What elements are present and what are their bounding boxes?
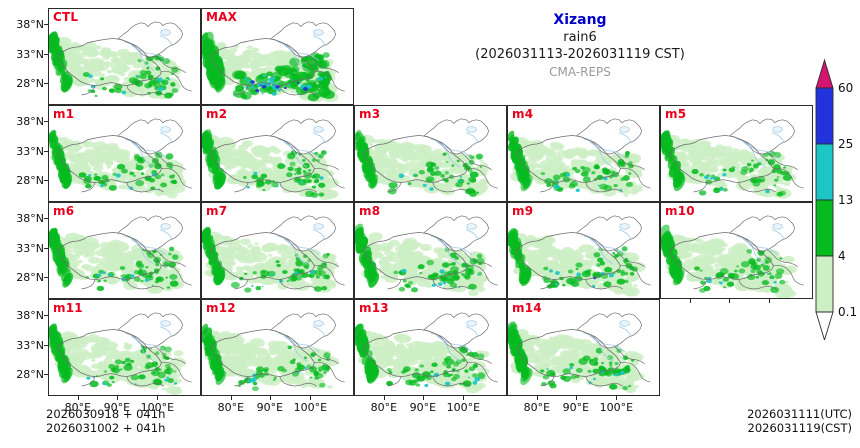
x-axis-label: 80°E [517, 402, 557, 413]
x-axis-tick [576, 396, 577, 400]
x-axis-label: 80°E [364, 402, 404, 413]
footer-left-line1: 2026030918 + 041h [46, 408, 165, 421]
panel-label: m12 [206, 301, 236, 315]
x-axis-label: 90°E [556, 402, 596, 413]
x-axis-tick [729, 299, 730, 303]
y-axis-tick [44, 277, 48, 278]
y-axis-tick [44, 180, 48, 181]
variable-title: rain6 [440, 29, 720, 46]
y-axis-label: 33°N [0, 340, 44, 351]
colorbar-label: 25 [838, 138, 853, 150]
footer-right-line1: 2026031111(UTC) [747, 408, 852, 421]
y-axis-tick [44, 374, 48, 375]
x-axis-label: 100°E [443, 402, 483, 413]
figure-title-block: Xizang rain6 (2026031113-2026031119 CST)… [440, 12, 720, 81]
y-axis-tick [44, 83, 48, 84]
map-panel-m4[interactable]: m4 [507, 105, 660, 202]
map-panel-m8[interactable]: m8 [354, 202, 507, 299]
panel-label: m14 [512, 301, 542, 315]
y-axis-label: 38°N [0, 310, 44, 321]
y-axis-label: 33°N [0, 146, 44, 157]
panel-label: m5 [665, 107, 686, 121]
map-panel-m6[interactable]: m6 [48, 202, 201, 299]
y-axis-label: 28°N [0, 272, 44, 283]
footer-right-line2: 2026031119(CST) [748, 422, 853, 435]
y-axis-tick [44, 315, 48, 316]
panel-label: m3 [359, 107, 380, 121]
panel-label: MAX [206, 10, 237, 24]
figure-root: Xizang rain6 (2026031113-2026031119 CST)… [0, 0, 860, 448]
x-axis-label: 80°E [211, 402, 251, 413]
y-axis-label: 38°N [0, 19, 44, 30]
map-panel-m12[interactable]: m12 [201, 299, 354, 396]
region-title: Xizang [440, 12, 720, 29]
map-panel-m10[interactable]: m10 [660, 202, 813, 299]
x-axis-tick [157, 396, 158, 400]
x-axis-tick [270, 396, 271, 400]
map-panel-m11[interactable]: m11 [48, 299, 201, 396]
panel-label: m4 [512, 107, 533, 121]
x-axis-tick [117, 396, 118, 400]
colorbar-label: 60 [838, 82, 853, 94]
y-axis-tick [44, 248, 48, 249]
panel-label: m7 [206, 204, 227, 218]
panel-label: m11 [53, 301, 83, 315]
x-axis-tick [616, 396, 617, 400]
y-axis-tick [44, 345, 48, 346]
y-axis-label: 28°N [0, 175, 44, 186]
panel-label: m10 [665, 204, 695, 218]
panel-label: m2 [206, 107, 227, 121]
panel-label: m6 [53, 204, 74, 218]
y-axis-label: 38°N [0, 213, 44, 224]
x-axis-tick [310, 396, 311, 400]
panel-label: m8 [359, 204, 380, 218]
x-axis-tick [690, 299, 691, 303]
colorbar-label: 4 [838, 250, 846, 262]
map-panel-m2[interactable]: m2 [201, 105, 354, 202]
x-axis-tick [231, 396, 232, 400]
x-axis-label: 90°E [250, 402, 290, 413]
panel-label: CTL [53, 10, 78, 24]
y-axis-label: 28°N [0, 78, 44, 89]
x-axis-tick [78, 396, 79, 400]
map-panel-max[interactable]: MAX [201, 8, 354, 105]
y-axis-tick [44, 121, 48, 122]
panel-label: m13 [359, 301, 389, 315]
x-axis-tick [423, 396, 424, 400]
map-panel-m13[interactable]: m13 [354, 299, 507, 396]
y-axis-label: 33°N [0, 49, 44, 60]
period-title: (2026031113-2026031119 CST) [440, 46, 720, 64]
y-axis-tick [44, 151, 48, 152]
source-title: CMA-REPS [440, 64, 720, 81]
x-axis-label: 100°E [290, 402, 330, 413]
colorbar-label: 13 [838, 194, 853, 206]
y-axis-label: 28°N [0, 369, 44, 380]
map-panel-m5[interactable]: m5 [660, 105, 813, 202]
panel-label: m1 [53, 107, 74, 121]
colorbar-label: 0.1 [838, 306, 857, 318]
x-axis-tick [769, 299, 770, 303]
x-axis-tick [384, 396, 385, 400]
map-panel-m9[interactable]: m9 [507, 202, 660, 299]
footer-left-line2: 2026031002 + 041h [46, 422, 165, 435]
x-axis-tick [463, 396, 464, 400]
y-axis-tick [44, 54, 48, 55]
map-panel-m1[interactable]: m1 [48, 105, 201, 202]
map-panel-m14[interactable]: m14 [507, 299, 660, 396]
map-panel-m7[interactable]: m7 [201, 202, 354, 299]
y-axis-label: 33°N [0, 243, 44, 254]
panel-label: m9 [512, 204, 533, 218]
map-panel-m3[interactable]: m3 [354, 105, 507, 202]
y-axis-label: 38°N [0, 116, 44, 127]
x-axis-tick [537, 396, 538, 400]
x-axis-label: 100°E [596, 402, 636, 413]
colorbar: 60251340.1 [814, 58, 860, 340]
y-axis-tick [44, 218, 48, 219]
map-panel-ctl[interactable]: CTL [48, 8, 201, 105]
x-axis-label: 90°E [403, 402, 443, 413]
y-axis-tick [44, 24, 48, 25]
